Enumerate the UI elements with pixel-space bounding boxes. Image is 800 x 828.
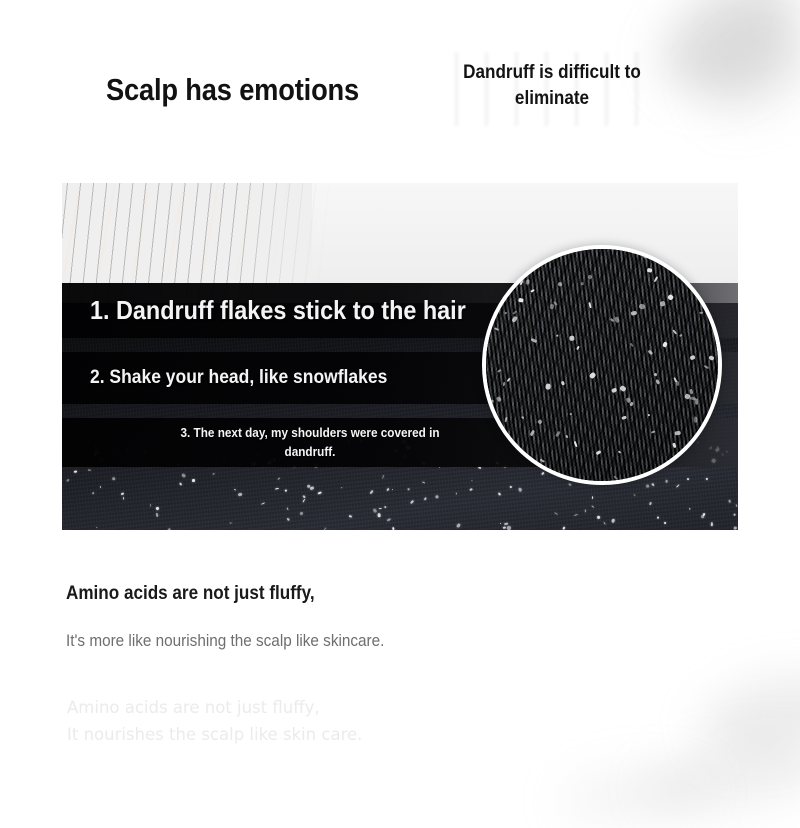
top-right-blur-shape-2 (691, 11, 800, 132)
bottom-right-blur-shape-3 (558, 762, 712, 827)
headline-right-container: Dandruff is difficult to eliminate (443, 60, 661, 112)
copy-heading: Amino acids are not just fluffy, (66, 583, 315, 605)
dandruff-banner-image: 1. Dandruff flakes stick to the hair 2. … (62, 183, 738, 530)
hair-closeup-magnifier-icon (482, 245, 722, 485)
banner-caption-text-3: 3. The next day, my shoulders were cover… (155, 424, 465, 462)
headline-dandruff-is-difficult-to-eliminate: Dandruff is difficult to eliminate (454, 60, 650, 112)
headline-scalp-has-emotions: Scalp has emotions (106, 72, 359, 108)
bottom-right-blur-shape-2 (641, 729, 800, 821)
banner-caption-text-1: 1. Dandruff flakes stick to the hair (90, 295, 466, 326)
copy-subheading: It's more like nourishing the scalp like… (66, 631, 384, 651)
top-right-blur-shape-1 (643, 0, 800, 114)
magnifier-hair-sweep (482, 245, 722, 485)
bottom-right-blur-shape-1 (694, 663, 800, 767)
banner-caption-text-2: 2. Shake your head, like snowflakes (90, 367, 387, 389)
copy-watermark-text: Amino acids are not just fluffy, It nour… (67, 694, 362, 748)
